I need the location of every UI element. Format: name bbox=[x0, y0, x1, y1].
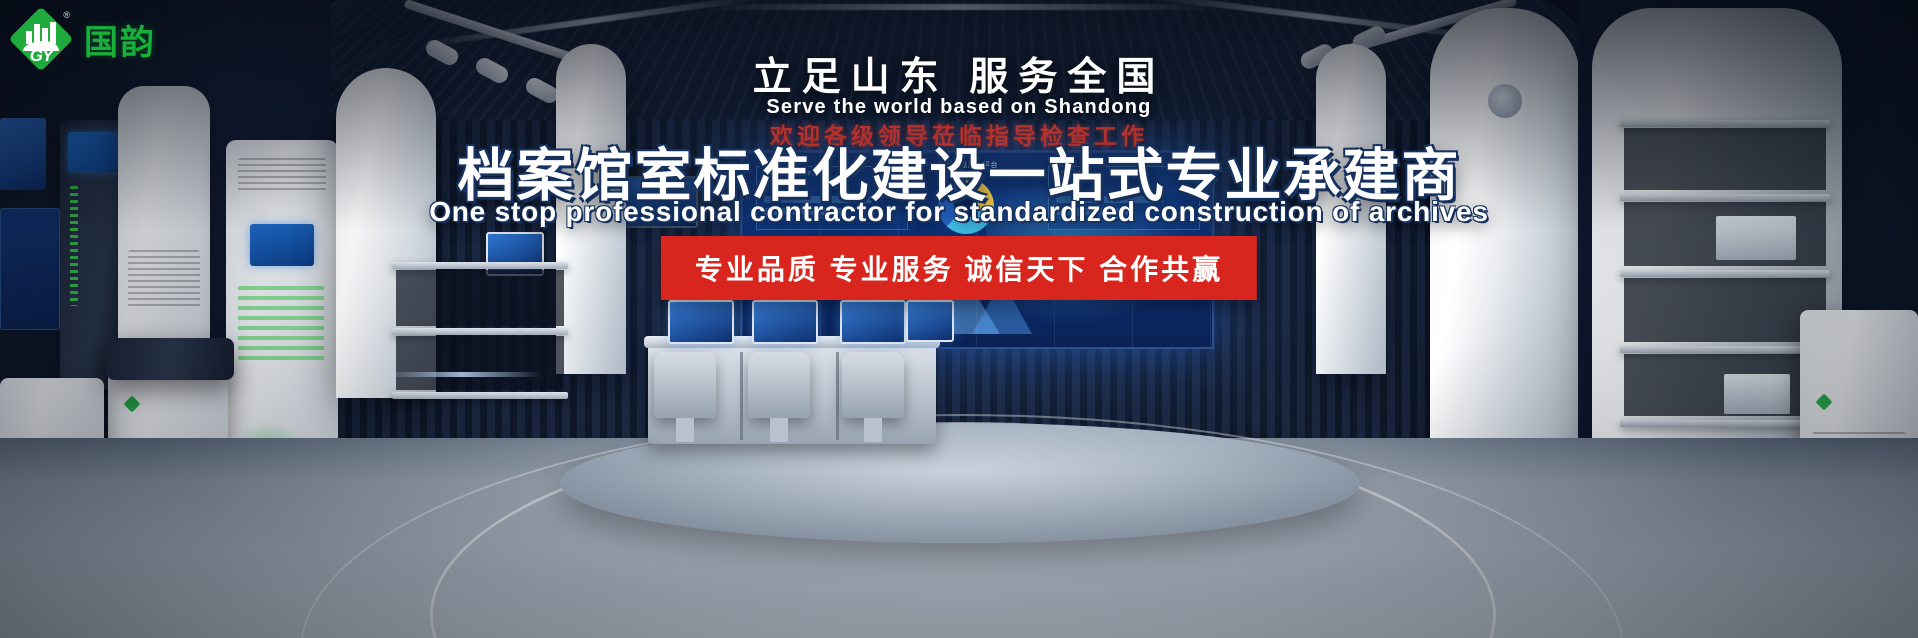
brand-logo[interactable]: GY ® 国韵 bbox=[10, 8, 156, 70]
office-chair bbox=[654, 352, 716, 418]
shelf-board bbox=[392, 328, 568, 335]
shelf-board bbox=[1620, 270, 1830, 277]
cabinet-vent bbox=[128, 250, 200, 308]
shelf-shadow-box bbox=[396, 270, 564, 326]
shelf-board bbox=[392, 392, 568, 399]
hero-subheadline-en: One stop professional contractor for sta… bbox=[0, 196, 1918, 228]
registered-trademark-icon: ® bbox=[63, 10, 70, 20]
logo-gy-text: GY bbox=[10, 46, 72, 66]
desk-divider bbox=[740, 352, 743, 440]
left-shelving-unit bbox=[392, 262, 568, 412]
chair-base bbox=[676, 418, 694, 442]
guoyun-diamond-logo-icon: GY ® bbox=[10, 8, 72, 70]
machine-touch-screen bbox=[250, 224, 314, 266]
hero-banner: 档案安全防护优秀单位 档案数据资源中心 档案信息服务平台 bbox=[0, 0, 1918, 638]
office-chair bbox=[748, 352, 810, 418]
chair-base bbox=[770, 418, 788, 442]
desk-monitor bbox=[752, 300, 818, 344]
desk-monitor bbox=[840, 300, 906, 344]
desk-divider bbox=[836, 352, 839, 440]
machine-status-leds bbox=[238, 286, 324, 360]
ceiling-light-strip bbox=[700, 4, 1220, 10]
chair-base bbox=[864, 418, 882, 442]
office-chair bbox=[842, 352, 904, 418]
hero-slogan-bar[interactable]: 专业品质 专业服务 诚信天下 合作共赢 bbox=[661, 236, 1257, 300]
shelf-board bbox=[1620, 420, 1830, 427]
brand-name-cn: 国韵 bbox=[84, 15, 156, 64]
left-wall-led-strip bbox=[382, 372, 542, 377]
desk-monitor bbox=[668, 300, 734, 344]
shelf-shadow-box bbox=[396, 336, 564, 390]
hero-eyebrow-en: Serve the world based on Shandong bbox=[0, 96, 1918, 119]
hero-eyebrow-cn: 立足山东 服务全国 bbox=[0, 46, 1918, 102]
shelf-shadow-box bbox=[1624, 278, 1826, 342]
shelf-board bbox=[392, 262, 568, 269]
shelf-board bbox=[1620, 346, 1830, 353]
floor-equipment-cart bbox=[106, 338, 234, 380]
desk-monitor bbox=[906, 300, 954, 342]
shelf-box-item bbox=[1724, 374, 1790, 414]
